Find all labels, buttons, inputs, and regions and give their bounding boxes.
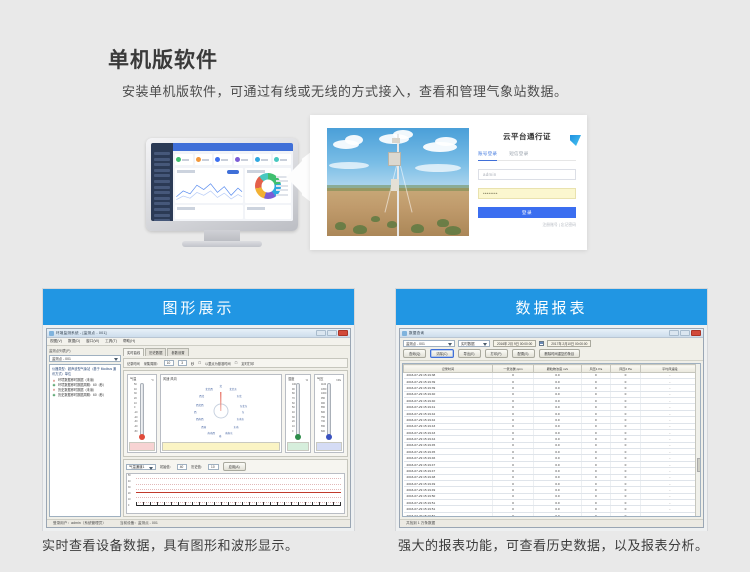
max-label: 初始值： [160,464,173,469]
window-content: 监测点列表(P) 监测点 - 001 仪器类型：超声波型气象站（基于 Modbu… [47,346,350,519]
record-time-label: 记录时间 [127,361,140,366]
close-button[interactable] [338,330,348,336]
list-item[interactable]: ◉ 历史数据即时数据周期：60（秒） [52,393,118,398]
panel-body-report: 数据查询 监测点 - 001 实时数据 2016年 2月 9日 00:00:00 [396,325,707,531]
feature-panel-report: 数据报表 数据查询 监测点 - 001 实时数据 [395,288,708,531]
column-header[interactable]: 风压1 Pa [581,365,611,373]
mast-sensor-box [388,152,401,166]
menu-item-view[interactable]: 视图(V) [50,339,62,344]
scrollbar-thumb[interactable] [697,458,701,472]
tab-sms-login[interactable]: 短信登录 [509,151,528,157]
caption-graphics: 实时查看设备数据，具有图形和波形显示。 [42,536,372,556]
query-filters: 监测点 - 001 实时数据 2016年 2月 9日 00:00:00 2017… [403,340,700,347]
hero-illustration: 云平台通行证 账号登录 短信登录 admin •••••••• 登录 注册账号 … [0,110,750,260]
desktop-monitor-illustration [146,138,298,248]
menu-bar: 视图(V) 数据(D) 窗口(W) 工具(T) 帮助(H) [47,338,350,346]
table-row[interactable]: 2016-07-29 15:19:5200.000- [404,512,700,517]
gauge-base-strip [287,442,309,451]
window-titlebar: 数据查询 [400,329,703,338]
channel-select[interactable]: 气温通道1 [126,464,156,470]
thermometer: 5040 3020 100 -10-20 -30-40 -50 [129,381,155,441]
gauge-humidity: 湿度 % 10090 8070 6050 4030 2010 [285,374,311,453]
date-to-value: 2017年 2月10日 00:00:00 [551,341,587,346]
login-title: 云平台通行证 [478,131,576,142]
interval-label: 采集周期： [144,361,160,366]
maximize-button[interactable] [327,330,337,336]
table-cell: 0.0 [534,512,581,517]
export-button[interactable]: 导出(E) [458,349,481,358]
table-cell: 0 [611,512,641,517]
menu-item-window[interactable]: 窗口(W) [86,339,99,344]
minimize-button[interactable] [316,330,326,336]
panel-header-graphics: 图形展示 [43,289,354,325]
y-tick: 30 [128,487,135,489]
gauge-base-strip [162,442,280,451]
pressure-bulb [326,434,332,440]
settings-button[interactable]: 配置(S) [512,349,535,358]
panel-header-report: 数据报表 [396,289,707,325]
dashboard-topbar [173,143,293,151]
pressure-gauge: 11001050 1000950 900850 800750 700650 60… [316,381,342,441]
login-help-links[interactable]: 注册账号 | 忘记密码 [478,223,576,228]
waveform-chart: 50 40 30 20 10 0 [126,473,345,514]
status-bar: 共找到 1 万条数据 [400,519,703,527]
login-form: 云平台通行证 账号登录 短信登录 admin •••••••• 登录 注册账号 … [478,131,576,228]
window-title-text: 环境监测系统 - [监测点 - 001] [56,331,107,336]
report-table-body: 2016-07-29 15:19:3800.000-2016-07-29 15:… [404,372,700,517]
report-table-container[interactable]: 记录时间 一氧化碳 ppm 颗粒物浓度 m/s 风压1 Pa 风压2 Pa 平均… [402,363,701,517]
gauge-panel-group: 气温 ℃ 5040 3020 100 -10-20 -30-40 [123,370,348,457]
menu-item-help[interactable]: 帮助(H) [123,339,135,344]
dashboard-line-chart [175,168,243,203]
min-label: 历史值： [191,464,204,469]
column-header[interactable]: 一氧化碳 ppm [492,365,533,373]
search-icon [402,331,407,336]
query-toolbar: 监测点 - 001 实时数据 2016年 2月 9日 00:00:00 2017… [400,338,703,361]
min-input[interactable]: 10 [208,464,219,470]
marketing-page: 单机版软件 安装单机版软件，可通过有线或无线的方式接入，查看和管理气象站数据。 [0,0,750,572]
chart-x-ticks [136,502,341,506]
interval-input[interactable]: 10 [164,360,175,366]
report-table: 记录时间 一氧化碳 ppm 颗粒物浓度 m/s 风压1 Pa 风压2 Pa 平均… [403,364,700,517]
window-title-text: 数据查询 [409,331,424,336]
dashboard-stat-cards [173,151,293,168]
checkbox-timed-print-label: 定时打印 [241,361,254,366]
status-device: 当前设备：监测点 - 001 [120,521,158,526]
login-button[interactable]: 登录 [478,207,576,218]
status-circle-icon: ◉ [52,393,56,397]
date-from-picker[interactable]: 2016年 2月 9日 00:00:00 [493,340,536,347]
site-list-label: 监测点列表(P) [49,348,121,353]
login-screenshot-card: 云平台通行证 账号登录 短信登录 admin •••••••• 登录 注册账号 … [310,115,587,250]
y-tick: 50 [128,475,135,477]
table-cell: 2016-07-29 15:19:52 [404,512,493,517]
status-user: 登录用户：admin（系统管理员） [53,521,106,526]
chart-y-axis: 50 40 30 20 10 0 [128,475,135,507]
table-cell: - [640,512,699,517]
status-bar: 登录用户：admin（系统管理员） 当前设备：监测点 - 001 [47,519,350,527]
column-header[interactable]: 平均风速段 [640,365,699,373]
y-tick: 40 [128,481,135,483]
interval-step-input[interactable]: 3 [178,360,187,366]
checkbox-align-hour[interactable]: ☐ [198,361,201,365]
date-to-picker[interactable]: 2017年 2月10日 00:00:00 [547,340,591,347]
maximize-button[interactable] [680,330,690,336]
table-cell: 0 [492,512,533,517]
waveform-toolbar: 气温通道1 初始值： 40 历史值： 10 应用(A) [126,462,345,471]
capture-toolbar: 记录时间 采集周期： 10 3 秒 ☐ 以整点为基准时间 ☐ 定时打印 [123,358,348,368]
list-item-label: 历史数据即时数据周期：60（秒） [58,393,106,398]
dashboard-sidebar [151,143,173,221]
max-input[interactable]: 40 [177,464,188,470]
mast-sensor-top [392,138,400,143]
dashboard-donut-chart [245,168,291,203]
pressure-scale: 11001050 1000950 900850 800750 700650 60… [321,383,331,435]
page-subtitle: 安装单机版软件，可通过有线或无线的方式接入，查看和管理气象站数据。 [122,81,568,100]
monitoring-app-window: 环境监测系统 - [监测点 - 001] 视图(V) 数据(D) 窗口(W) 工… [46,328,351,528]
humidity-scale: 10090 8070 6050 4030 2010 0 [292,383,302,435]
monitor-foot [182,241,262,247]
y-tick: 10 [128,499,135,501]
weather-station-photo [327,128,469,236]
query-buttons: 查询(Q) 清除(C) 导出(E) 打印(P) 配置(S) 删除时间重复的条目 [403,349,700,358]
site-select[interactable]: 监测点 - 001 [49,355,121,362]
minimize-button[interactable] [669,330,679,336]
thermometer-bulb [139,434,145,440]
status-circle-icon: ◉ [52,383,56,387]
wind-compass: 北 北北东 东北 东北东 东 东南东 东南 南南东 南 [162,381,280,441]
menu-item-data[interactable]: 数据(D) [68,339,80,344]
app-icon [49,331,54,336]
column-header[interactable]: 记录时间 [404,365,493,373]
chart-series-line [136,492,341,493]
status-x-icon: ✕ [52,379,56,383]
y-tick: 20 [128,493,135,495]
window-controls [316,330,348,336]
login-tabs: 账号登录 短信登录 [478,151,576,161]
dashboard-bottom-row [173,205,293,221]
y-tick: 0 [128,505,135,507]
dashboard-main [173,143,293,221]
compass-needle [220,392,221,411]
site-tree-pane: 监测点列表(P) 监测点 - 001 仪器类型：超声波型气象站（基于 Modbu… [49,348,121,517]
gauge-wind: 风速·风向 北 北北东 东北 东北东 东 东南东 [160,374,282,453]
compass-rose: 北 北北东 东北 东北东 东 东南东 东南 南南东 南 [195,385,247,437]
checkbox-align-hour-label: 以整点为基准时间 [205,361,231,366]
password-field[interactable]: •••••••• [478,188,576,199]
page-title: 单机版软件 [108,44,218,74]
username-field[interactable]: admin [478,169,576,180]
humidity-bulb [295,434,301,440]
tab-history-data[interactable]: 历史数据 [145,348,166,356]
gauge-temperature: 气温 ℃ 5040 3020 100 -10-20 -30-40 [127,374,157,453]
print-button[interactable]: 打印(P) [485,349,508,358]
chart-plot-area [136,476,341,506]
tab-strip: 实时曲线 历史数据 参数设置 [123,348,348,356]
gauge-pressure: 气压 hPa 11001050 1000950 900850 800750 70… [314,374,344,453]
query-button[interactable]: 查询(Q) [403,349,426,358]
window-titlebar: 环境监测系统 - [监测点 - 001] [47,329,350,338]
apply-button[interactable]: 应用(A) [223,462,246,471]
clear-button[interactable]: 清除(C) [430,349,453,358]
gauge-base-strip [316,442,342,451]
monitor-bezel [146,138,298,231]
instrument-note: 仪器类型：超声波型气象站（基于 Modbus 通讯方式）单位 [52,367,118,376]
status-x-icon: ✕ [52,388,56,392]
site-tree[interactable]: 仪器类型：超声波型气象站（基于 Modbus 通讯方式）单位 ✕ 环境数据即时数… [49,364,121,517]
humidity-gauge: 10090 8070 6050 4030 2010 0 [287,381,309,441]
thermometer-scale: 5040 3020 100 -10-20 -30-40 -50 [134,383,144,435]
interval-unit: 秒 [191,361,194,366]
remove-duplicates-button[interactable]: 删除时间重复的条目 [539,349,581,358]
vertical-scrollbar[interactable] [695,364,700,516]
caption-report: 强大的报表功能，可查看历史数据，以及报表分析。 [398,536,718,556]
checkbox-timed-print[interactable]: ☐ [235,361,238,365]
panel-body-graphics: 环境监测系统 - [监测点 - 001] 视图(V) 数据(D) 窗口(W) 工… [43,325,354,531]
window-controls [669,330,701,336]
waveform-section: 气温通道1 初始值： 40 历史值： 10 应用(A) 50 40 [123,459,348,517]
calendar-icon[interactable] [539,341,544,346]
tab-account-login[interactable]: 账号登录 [478,151,497,161]
dashboard-charts-row [173,168,293,205]
record-count: 共找到 1 万条数据 [406,521,435,526]
mast-sensor-box-lower [391,179,399,191]
date-from-value: 2016年 2月 9日 00:00:00 [497,341,532,346]
graphics-pane: 实时曲线 历史数据 参数设置 记录时间 采集周期： 10 3 秒 ☐ 以整点为基… [123,348,348,517]
table-cell: 0 [581,512,611,517]
site-select[interactable]: 监测点 - 001 [403,340,455,347]
gauge-base-strip [129,442,155,451]
column-header[interactable]: 颗粒物浓度 m/s [534,365,581,373]
menu-item-tools[interactable]: 工具(T) [105,339,117,344]
table-header-row: 记录时间 一氧化碳 ppm 颗粒物浓度 m/s 风压1 Pa 风压2 Pa 平均… [404,365,700,373]
data-type-select[interactable]: 实时数据 [458,340,490,347]
report-app-window: 数据查询 监测点 - 001 实时数据 2016年 2月 9日 00:00:00 [399,328,704,528]
monitor-screen [151,143,293,221]
tab-realtime-curve[interactable]: 实时曲线 [123,348,144,356]
tab-settings[interactable]: 参数设置 [167,348,188,356]
column-header[interactable]: 风压2 Pa [611,365,641,373]
close-button[interactable] [691,330,701,336]
feature-panel-graphics: 图形展示 环境监测系统 - [监测点 - 001] 视图(V) 数据(D) 窗口… [42,288,355,531]
